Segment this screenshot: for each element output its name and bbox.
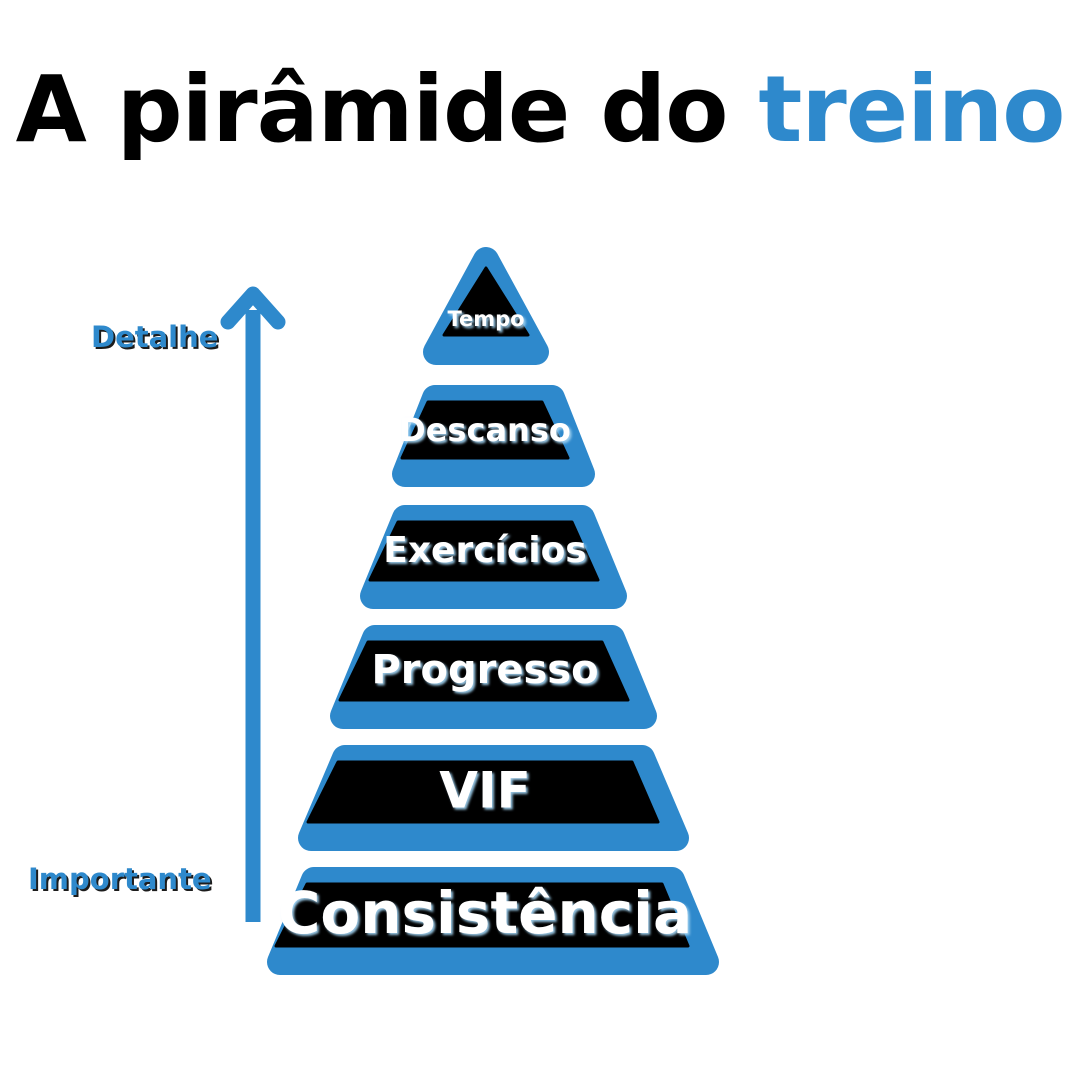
pyramid-level-progresso-label: Progresso (371, 647, 598, 693)
pyramid-level-vif[interactable]: VIF (308, 758, 676, 838)
pyramid-level-descanso[interactable]: Descanso (399, 398, 582, 474)
page-title: A pirâmide do treino (0, 58, 1080, 162)
page-title-plain: A pirâmide do (16, 56, 759, 163)
axis-label-top: Detalhe (91, 320, 218, 354)
page-title-accent: treino (758, 56, 1064, 163)
pyramid-level-tempo[interactable]: Tempo (436, 260, 536, 352)
axis-label-bottom: Importante (28, 862, 212, 896)
pyramid-level-exercicios-label: Exercícios (383, 530, 587, 571)
pyramid-level-exercicios[interactable]: Exercícios (370, 518, 614, 596)
up-arrow-icon (228, 294, 278, 922)
pyramid-level-consistencia-label: Consistência (278, 879, 692, 947)
pyramid-level-progresso[interactable]: Progresso (340, 638, 644, 716)
pyramid-level-vif-label: VIF (439, 762, 530, 820)
pyramid-level-tempo-label: Tempo (447, 307, 524, 331)
pyramid-level-descanso-label: Descanso (399, 411, 571, 449)
importance-axis (218, 282, 288, 932)
pyramid-level-consistencia[interactable]: Consistência (276, 879, 706, 962)
poster-canvas: A pirâmide do treino Detalhe Importante (0, 0, 1080, 1080)
training-pyramid: Tempo Descanso Exercícios Progresso (300, 250, 1040, 950)
